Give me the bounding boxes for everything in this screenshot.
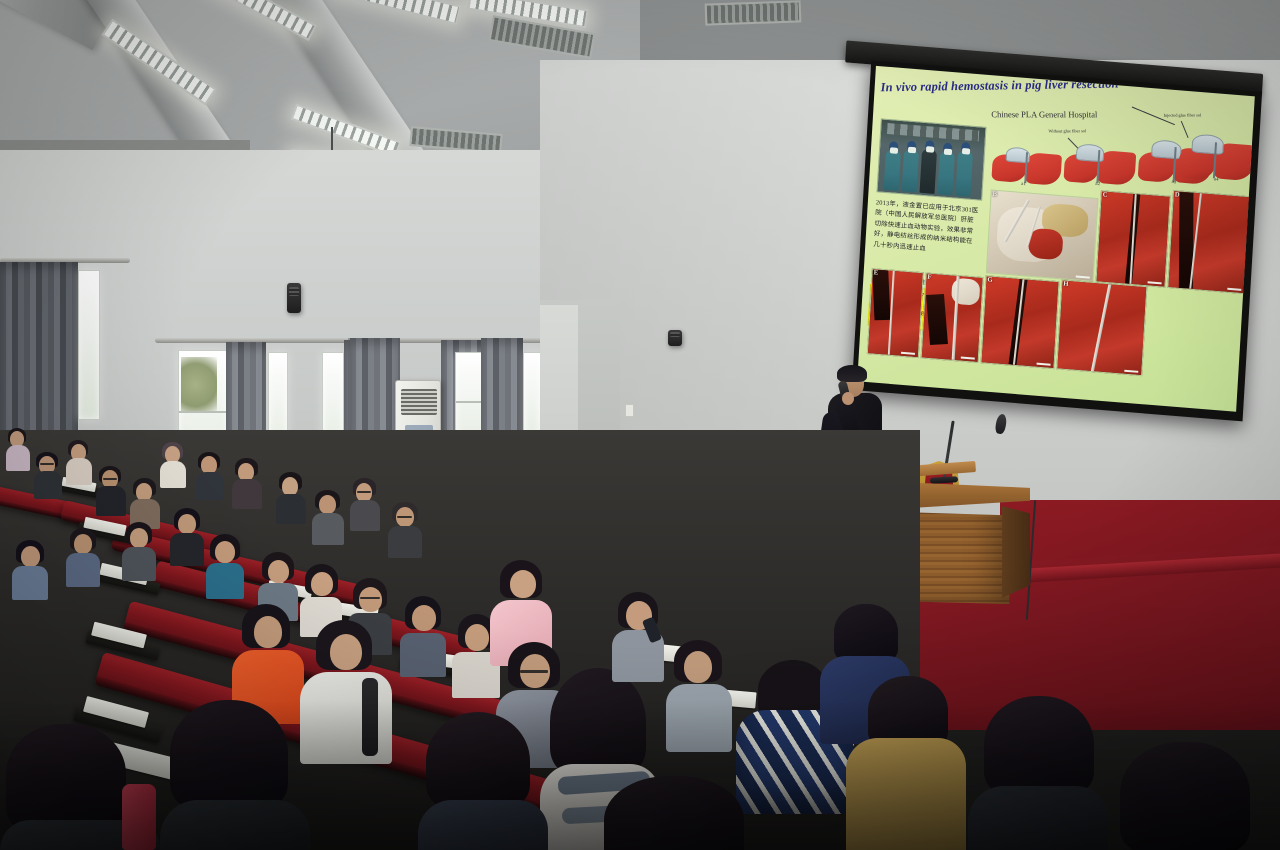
slide-callout: Without glue fiber sol — [1048, 128, 1086, 133]
audience-member — [666, 640, 732, 750]
window-foliage — [181, 357, 217, 413]
slide-callout: Injected glue fiber sol — [1164, 112, 1202, 117]
wall-outlet — [625, 404, 634, 417]
presentation-slide: In vivo rapid hemostasis in pig liver re… — [857, 66, 1255, 412]
surgeon-figure — [937, 151, 955, 195]
ac-grille — [401, 389, 437, 415]
surgeon-figure — [884, 150, 901, 191]
audience-member-white-jacket — [300, 620, 392, 760]
slide-body-text: 2013年，液金置已应用于北京301医院（中国人民解放军总医院）肝脏切除快速止血… — [873, 198, 980, 258]
ceiling-air-vent — [705, 0, 802, 25]
operating-room-light — [887, 123, 979, 142]
slide-panel-H: H — [1056, 279, 1147, 376]
slide-panel-G: G — [981, 275, 1060, 369]
presenter-hand — [842, 392, 854, 405]
projection-screen: In vivo rapid hemostasis in pig liver re… — [846, 48, 1265, 424]
slide-panel-D: D — [1167, 190, 1251, 294]
audience-member — [388, 502, 422, 556]
surgeon-figure — [920, 149, 938, 194]
audience-member — [66, 528, 100, 584]
presenter-hair — [837, 365, 867, 382]
audience-member — [34, 452, 62, 498]
audience-member — [276, 472, 306, 522]
surgeon-figure — [902, 149, 919, 192]
slide-panel-E: E — [867, 268, 924, 358]
slide-panel-F: F — [921, 272, 984, 363]
wall-speaker-icon — [287, 283, 301, 313]
audience-member — [350, 478, 380, 528]
audience-member-foreground — [160, 700, 310, 850]
audience-member-foreground — [968, 696, 1108, 850]
screen-frame: In vivo rapid hemostasis in pig liver re… — [852, 60, 1262, 421]
audience-member — [206, 534, 244, 596]
slide-subtitle: Chinese PLA General Hospital — [991, 109, 1097, 119]
water-bottle — [122, 784, 156, 850]
surgical-team-photo — [876, 118, 986, 200]
audience-member-foreground — [590, 776, 770, 850]
audience-member-foreground — [1110, 742, 1280, 850]
audience-member — [12, 540, 48, 598]
audience-member — [232, 458, 262, 506]
audience-member — [122, 522, 156, 578]
slide-panel-C: C — [1096, 190, 1171, 287]
wall-speaker-icon — [668, 330, 682, 346]
audience-member — [66, 440, 92, 484]
audience-member-mustard-jacket — [846, 676, 966, 850]
liver-diagram-a4: a4 — [1178, 130, 1255, 188]
audience-member — [130, 478, 160, 526]
audience-member — [612, 592, 664, 680]
window-mullion — [179, 411, 227, 413]
audience-member — [170, 508, 204, 564]
slide-title: In vivo rapid hemostasis in pig liver re… — [880, 77, 1118, 96]
liver-diagram-a2: a2 — [1063, 137, 1138, 191]
window — [78, 270, 100, 420]
audience-member — [160, 442, 186, 486]
audience-member — [96, 466, 126, 514]
audience-member-foreground — [418, 712, 548, 850]
podium-side-panel — [1002, 506, 1030, 598]
audience-member — [196, 452, 224, 498]
liver-diagram-a1: a1 — [991, 138, 1064, 190]
audience-member — [400, 596, 446, 674]
slide-panel-B: B — [986, 189, 1099, 282]
lecture-hall-photo: In vivo rapid hemostasis in pig liver re… — [0, 0, 1280, 850]
surgeon-figure — [955, 151, 973, 197]
audience-member — [312, 490, 344, 542]
audience-member — [6, 428, 30, 470]
